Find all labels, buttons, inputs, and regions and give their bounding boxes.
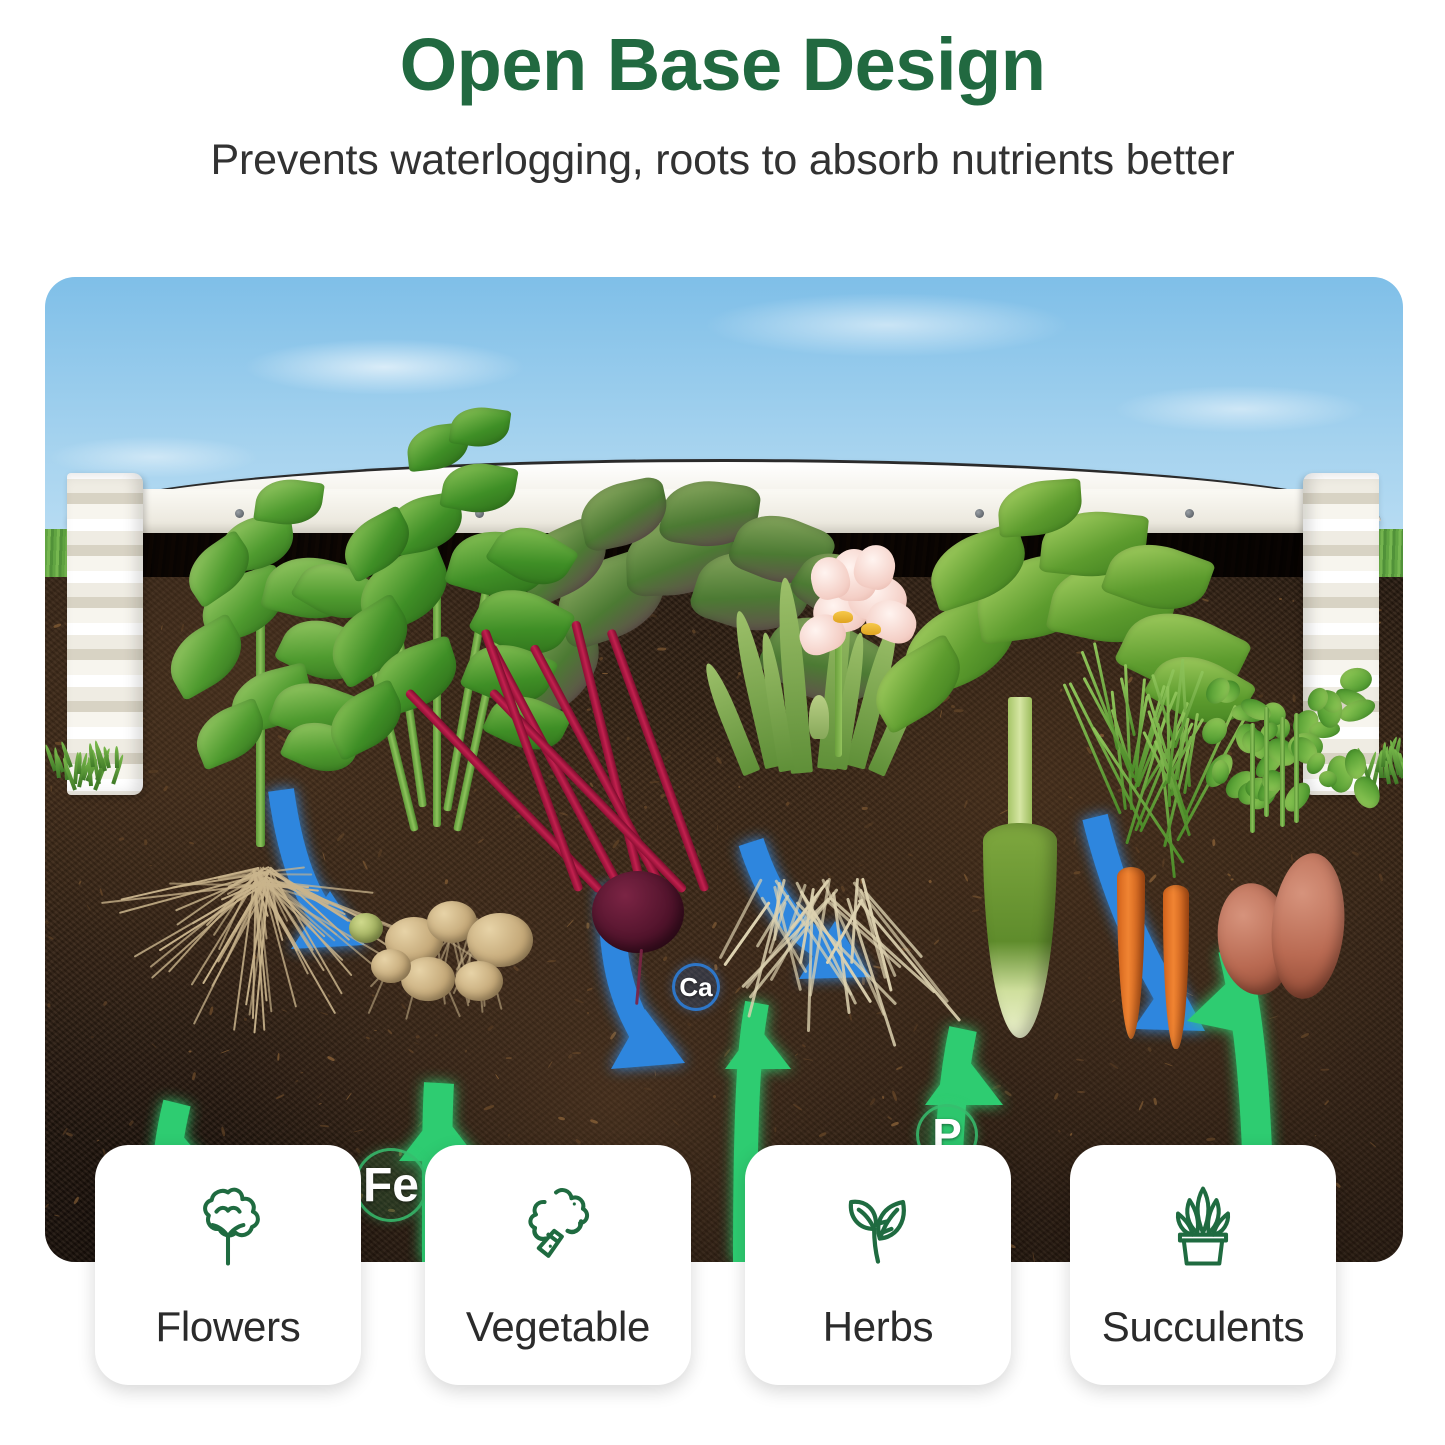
- nutrient-badge-fe: Fe: [354, 1148, 428, 1222]
- two-leaves-icon: [830, 1179, 926, 1275]
- iris-bud: [809, 695, 829, 739]
- category-label: Herbs: [823, 1303, 934, 1351]
- potato-tuber-green: [349, 913, 383, 943]
- potato-tuber: [371, 949, 411, 983]
- category-card-vegetable[interactable]: Vegetable: [425, 1145, 691, 1385]
- parsley-stem: [1294, 713, 1299, 823]
- promo-graphic: Open Base Design Prevents waterlogging, …: [0, 0, 1445, 1445]
- parsley-stem: [1264, 707, 1269, 817]
- parsley-stem: [1250, 723, 1255, 833]
- potted-succulent-icon: [1155, 1179, 1251, 1275]
- potato-tuber: [455, 961, 503, 1001]
- category-card-succulents[interactable]: Succulents: [1070, 1145, 1336, 1385]
- category-card-herbs[interactable]: Herbs: [745, 1145, 1011, 1385]
- garden-bed-scene: CaFePNKMg: [45, 277, 1403, 1262]
- iris-beard: [861, 623, 881, 635]
- beet-bulb: [592, 871, 684, 953]
- parsley-stem: [1280, 717, 1285, 827]
- potato-tuber: [467, 913, 533, 967]
- broccoli-icon: [510, 1179, 606, 1275]
- category-label: Succulents: [1102, 1303, 1304, 1351]
- category-label: Flowers: [156, 1303, 301, 1351]
- page-subtitle: Prevents waterlogging, roots to absorb n…: [0, 136, 1445, 185]
- nutrient-flow-arrows: [45, 277, 1403, 1262]
- page-title: Open Base Design: [0, 26, 1445, 104]
- nutrient-badge-ca: Ca: [672, 963, 720, 1011]
- category-label: Vegetable: [466, 1303, 650, 1351]
- category-card-flowers[interactable]: Flowers: [95, 1145, 361, 1385]
- iris-beard: [833, 611, 853, 623]
- flower-icon: [180, 1179, 276, 1275]
